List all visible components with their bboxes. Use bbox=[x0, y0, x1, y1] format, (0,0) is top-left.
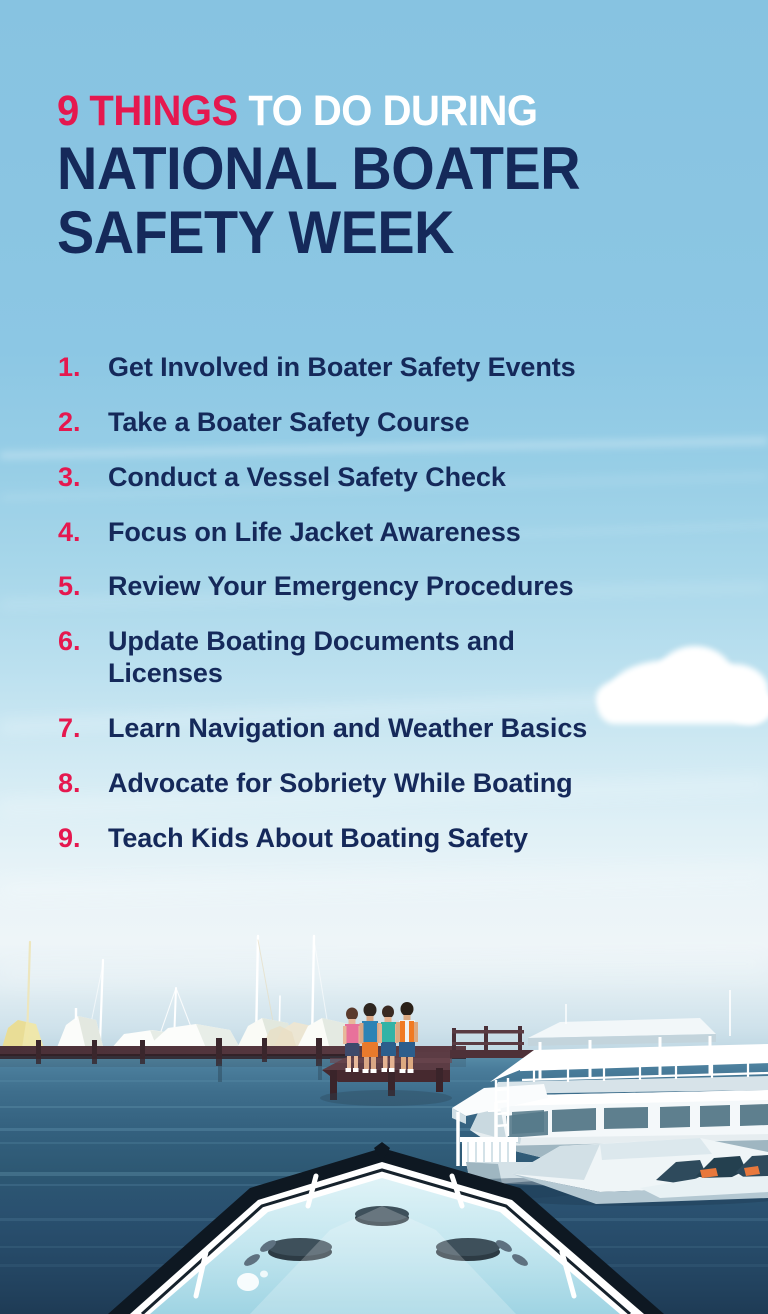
list-item-number: 2. bbox=[58, 407, 108, 439]
list-item: 9. Teach Kids About Boating Safety bbox=[58, 823, 748, 855]
list-item: 1. Get Involved in Boater Safety Events bbox=[58, 352, 748, 384]
list-item-label: Advocate for Sobriety While Boating bbox=[108, 768, 573, 800]
list-item-label: Take a Boater Safety Course bbox=[108, 407, 469, 439]
title-line-3: SAFETY WEEK bbox=[57, 205, 689, 261]
list-item: 8. Advocate for Sobriety While Boating bbox=[58, 768, 748, 800]
list-item-label: Focus on Life Jacket Awareness bbox=[108, 517, 521, 549]
tips-list: 1. Get Involved in Boater Safety Events … bbox=[58, 352, 748, 878]
title-rest: TO DO DURING bbox=[248, 87, 537, 135]
list-item-label: Get Involved in Boater Safety Events bbox=[108, 352, 576, 384]
list-item: 2. Take a Boater Safety Course bbox=[58, 407, 748, 439]
list-item-label: Conduct a Vessel Safety Check bbox=[108, 462, 506, 494]
title-line-1: 9 THINGS TO DO DURING bbox=[57, 92, 689, 132]
infographic-poster: 9 THINGS TO DO DURING NATIONAL BOATER SA… bbox=[0, 0, 768, 1314]
list-item-number: 5. bbox=[58, 571, 108, 603]
list-item-label: Teach Kids About Boating Safety bbox=[108, 823, 528, 855]
page-title: 9 THINGS TO DO DURING NATIONAL BOATER SA… bbox=[57, 92, 737, 261]
list-item-label: Update Boating Documents and Licenses bbox=[108, 626, 588, 690]
list-item-label: Learn Navigation and Weather Basics bbox=[108, 713, 587, 745]
list-item-number: 1. bbox=[58, 352, 108, 384]
list-item: 6. Update Boating Documents and Licenses bbox=[58, 626, 748, 690]
list-item: 4. Focus on Life Jacket Awareness bbox=[58, 517, 748, 549]
list-item-number: 8. bbox=[58, 768, 108, 800]
list-item-number: 6. bbox=[58, 626, 108, 658]
title-highlight: 9 THINGS bbox=[57, 87, 238, 135]
list-item: 5. Review Your Emergency Procedures bbox=[58, 571, 748, 603]
list-item-number: 3. bbox=[58, 462, 108, 494]
list-item-number: 7. bbox=[58, 713, 108, 745]
list-item: 3. Conduct a Vessel Safety Check bbox=[58, 462, 748, 494]
list-item: 7. Learn Navigation and Weather Basics bbox=[58, 713, 748, 745]
list-item-label: Review Your Emergency Procedures bbox=[108, 571, 574, 603]
list-item-number: 9. bbox=[58, 823, 108, 855]
title-line-2: NATIONAL BOATER bbox=[57, 141, 689, 197]
poster-text-content: 9 THINGS TO DO DURING NATIONAL BOATER SA… bbox=[0, 0, 768, 1314]
list-item-number: 4. bbox=[58, 517, 108, 549]
